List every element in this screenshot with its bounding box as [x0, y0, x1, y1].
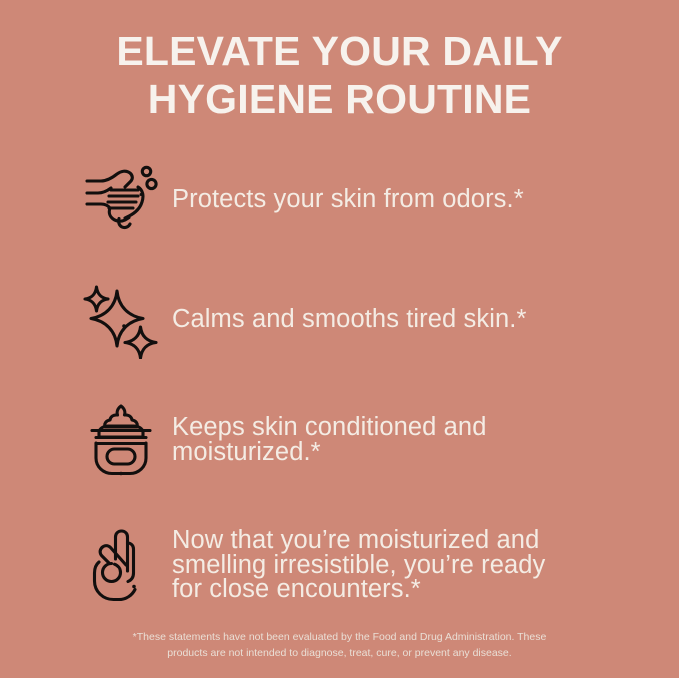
ok-hand-gesture-icon — [78, 522, 164, 608]
benefit-text-3-line-1: Keeps skin conditioned and — [172, 415, 487, 440]
benefit-item-4: Now that you’re moisturized and smelling… — [0, 501, 679, 629]
page-title-line-1: ELEVATE YOUR DAILY — [60, 28, 620, 76]
benefit-item-1: Protects your skin from odors.* — [0, 139, 679, 259]
benefit-text-4-line-1: Now that you’re moisturized and — [172, 528, 545, 553]
benefit-text-4-line-2: smelling irresistible, you’re ready — [172, 553, 545, 578]
page-title: ELEVATE YOUR DAILY HYGIENE ROUTINE — [60, 28, 620, 123]
cream-jar-icon — [78, 397, 164, 483]
benefit-item-3: Keeps skin conditioned and moisturized.* — [0, 379, 679, 501]
promo-poster: ELEVATE YOUR DAILY HYGIENE ROUTINE — [0, 0, 679, 678]
benefit-text-2: Calms and smooths tired skin.* — [164, 307, 526, 332]
sparkles-icon — [78, 276, 164, 362]
benefit-text-1: Protects your skin from odors.* — [164, 187, 524, 212]
benefit-text-2-line-1: Calms and smooths tired skin.* — [172, 307, 526, 332]
benefit-text-4-line-3: for close encounters.* — [172, 577, 545, 602]
benefit-list: Protects your skin from odors.* Calms an… — [0, 139, 679, 629]
benefit-text-3: Keeps skin conditioned and moisturized.* — [164, 415, 487, 464]
disclaimer-line-2: products are not intended to diagnose, t… — [80, 645, 600, 661]
page-title-line-2: HYGIENE ROUTINE — [60, 76, 620, 124]
benefit-text-4: Now that you’re moisturized and smelling… — [164, 528, 545, 602]
benefit-text-1-line-1: Protects your skin from odors.* — [172, 187, 524, 212]
hand-washing-icon — [78, 156, 164, 242]
disclaimer-footnote: *These statements have not been evaluate… — [80, 629, 600, 662]
benefit-text-3-line-2: moisturized.* — [172, 440, 487, 465]
benefit-item-2: Calms and smooths tired skin.* — [0, 259, 679, 379]
disclaimer-line-1: *These statements have not been evaluate… — [80, 629, 600, 645]
